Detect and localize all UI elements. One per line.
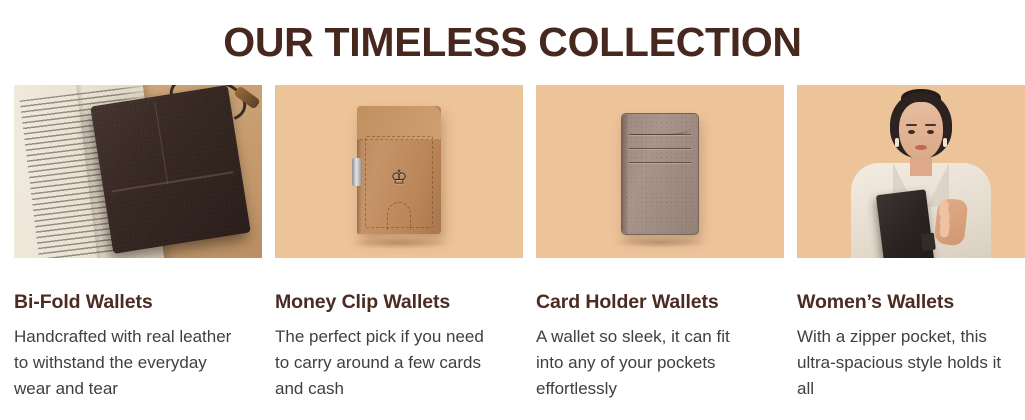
card-slot: [629, 134, 691, 136]
card-heading: Card Holder Wallets: [536, 291, 784, 314]
tan-money-clip-wallet: ♔: [357, 106, 441, 234]
card-heading: Bi-Fold Wallets: [14, 291, 262, 314]
dark-brown-wallet: [90, 86, 250, 255]
thumb-cutout: [387, 202, 411, 230]
horse-emblem-icon: ♔: [390, 168, 407, 187]
timeless-collection-section: { "section": { "title": "OUR TIMELESS CO…: [0, 0, 1025, 420]
collection-card[interactable]: Card Holder Wallets A wallet so sleek, i…: [536, 85, 784, 402]
card-slot: [629, 148, 691, 150]
collection-card[interactable]: Bi-Fold Wallets Handcrafted with real le…: [14, 85, 262, 402]
wallet-flap: [357, 106, 441, 140]
card-heading: Women’s Wallets: [797, 291, 1025, 314]
eyebrow-left: [906, 124, 917, 126]
finger: [939, 220, 950, 238]
metal-money-clip: [352, 158, 361, 186]
collection-card[interactable]: Women’s Wallets With a zipper pocket, th…: [797, 85, 1025, 402]
collection-card[interactable]: ♔ Money Clip Wallets The perfect pick if…: [275, 85, 523, 402]
card-description: A wallet so sleek, it can fit into any o…: [536, 324, 758, 401]
bi-fold-wallet-photo[interactable]: [14, 85, 262, 258]
taupe-card-holder-wallet: [621, 113, 699, 235]
money-clip-wallet-photo[interactable]: ♔: [275, 85, 523, 258]
lips: [915, 145, 927, 150]
card-slot: [629, 162, 691, 164]
model-hand: [934, 198, 969, 247]
earring-left: [895, 138, 899, 147]
earring-right: [943, 138, 947, 147]
card-description: The perfect pick if you need to carry ar…: [275, 324, 497, 401]
model-face: [899, 102, 943, 160]
card-description: Handcrafted with real leather to withsta…: [14, 324, 236, 401]
eyebrow-right: [925, 124, 936, 126]
womens-wallet-photo[interactable]: [797, 85, 1025, 258]
wallet-drop-shadow: [612, 237, 708, 248]
eye-left: [908, 130, 915, 134]
wallet-spine-edge: [622, 114, 629, 234]
card-description: With a zipper pocket, this ultra-spaciou…: [797, 324, 1019, 401]
eye-right: [927, 130, 934, 134]
card-heading: Money Clip Wallets: [275, 291, 523, 314]
card-slot-curve: [629, 119, 691, 135]
card-holder-wallet-photo[interactable]: [536, 85, 784, 258]
wallet-drop-shadow: [347, 237, 451, 249]
page-title: OUR TIMELESS COLLECTION: [0, 0, 1025, 65]
leather-grain-texture: [90, 86, 250, 255]
collection-card-grid: Bi-Fold Wallets Handcrafted with real le…: [0, 85, 1025, 402]
